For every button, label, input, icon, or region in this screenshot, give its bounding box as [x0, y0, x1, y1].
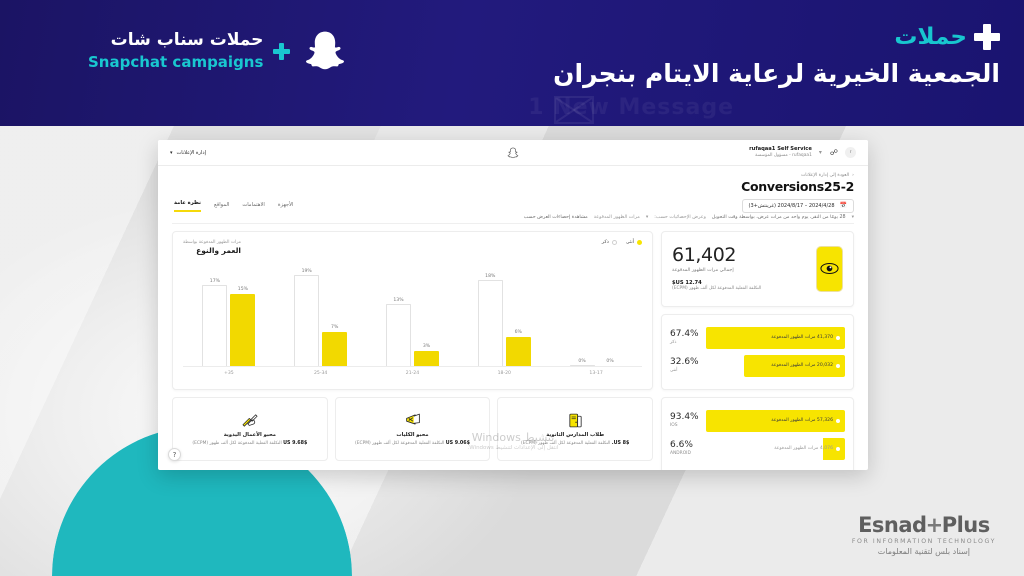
left-column: 61,402 إجمالي مرات الظهور المدفوعة $US 1…: [661, 231, 854, 470]
os-row-android: 4,076 مرات الظهور المدفوعة 6.6% ANDROID: [670, 438, 845, 460]
chevron-down-icon[interactable]: ▾: [819, 149, 822, 156]
bar-female-18-20: 6%: [506, 337, 531, 365]
chart-x-axis: +35 25-34 21-24 18-20 13-17: [183, 371, 642, 376]
gender-female-label: أنثى: [670, 368, 699, 373]
avatar[interactable]: r: [845, 147, 856, 158]
logo-tagline: FOR INFORMATION TECHNOLOGY: [852, 538, 996, 545]
impressions-card: 61,402 إجمالي مرات الظهور المدفوعة $US 1…: [661, 231, 854, 307]
audience-cost-value: $US 9.68: [283, 441, 307, 446]
legend-item-male[interactable]: ذكر: [602, 240, 617, 245]
bar-male-13-17: 0%: [570, 365, 595, 366]
stats-filter-prefix: مشاهدة إحصاءات العرض حسب: [524, 215, 588, 220]
bar-female-25-34: 7%: [322, 332, 347, 366]
dashboard-header: ‹ العودة إلى إدارة الإعلانات Conversions…: [158, 166, 868, 224]
audience-cost: $US 9.68 التكلفة الفعلية المدفوعة لكل أل…: [192, 441, 307, 447]
chart-legend: أنثى ذكر: [602, 240, 642, 245]
audience-card-high-school[interactable]: طلاب المدارس الثانوية $US 8. التكلفة الف…: [497, 397, 653, 461]
legend-item-female[interactable]: أنثى: [626, 240, 642, 245]
bar-label-female-25-34: 7%: [331, 325, 338, 330]
date-range-value: 2024/4/28 – 2024/8/17 (غرينتش+3): [749, 203, 835, 209]
gender-bar-male: 41,370 مرات الظهور المدفوعة: [706, 327, 845, 349]
bar-label-male-25-34: 19%: [302, 269, 312, 274]
right-column: أنثى ذكر مرات الظهور المدفوعة بواسطة الع…: [172, 231, 653, 470]
xtick-35plus: +35: [201, 371, 257, 376]
bell-icon[interactable]: ☍: [830, 148, 838, 157]
logo-arabic: إسناد بلس لتقنية المعلومات: [852, 547, 996, 556]
audience-cost-label: التكلفة الفعلية المدفوعة لكل ألف ظهور (E…: [521, 441, 610, 446]
dashboard-topbar: r ☍ ▾ rufaqaa1 Self Service rufaqaa1 - م…: [158, 140, 868, 166]
plus-icon: [273, 43, 290, 60]
tab-devices[interactable]: الأجهزة: [278, 202, 294, 212]
os-breakdown-card: 57,326 مرات الظهور المدفوعة 93.4% IOS 4,…: [661, 397, 854, 470]
bar-label-male-21-24: 13%: [393, 298, 403, 303]
gender-row-female: 20,032 مرات الظهور المدفوعة 32.6% أنثى: [670, 355, 845, 377]
bar-label-female-35plus: 15%: [238, 287, 248, 292]
banner-kicker: حملات: [894, 26, 967, 49]
bar-female-21-24: 3%: [414, 351, 439, 366]
date-range-picker[interactable]: 📅 2024/4/28 – 2024/8/17 (غرينتش+3): [742, 199, 854, 213]
bullet-icon: [836, 336, 840, 340]
gender-male-percent: 67.4%: [670, 330, 699, 339]
bullet-icon: [836, 419, 840, 423]
bar-male-35plus: 17%: [202, 285, 227, 366]
audience-card-college[interactable]: محبو الكليات $US 9.06 التكلفة الفعلية ال…: [335, 397, 491, 461]
stats-filter-row: ▾ 28 يومًا من النقر، يوم واحد من مرات عر…: [172, 215, 854, 224]
audience-cost-label: التكلفة الفعلية المدفوعة لكل ألف ظهور (E…: [355, 441, 444, 446]
bar-male-21-24: 13%: [386, 304, 411, 366]
bar-group-25-34: 19% 7%: [294, 261, 347, 366]
dashboard-content: 61,402 إجمالي مرات الظهور المدفوعة $US 1…: [158, 224, 868, 470]
bar-group-35plus: 17% 15%: [202, 261, 255, 366]
envelope-icon: [554, 96, 594, 124]
breadcrumb-label: العودة إلى إدارة الإعلانات: [801, 173, 849, 178]
os-row-ios: 57,326 مرات الظهور المدفوعة 93.4% IOS: [670, 410, 845, 432]
chevron-down-icon: ▾: [170, 150, 173, 156]
gender-row-male: 41,370 مرات الظهور المدفوعة 67.4% ذكر: [670, 327, 845, 349]
legend-swatch-female-icon: [637, 240, 642, 245]
audience-name: طلاب المدارس الثانوية: [546, 432, 604, 438]
audience-card-diy[interactable]: محبو الأعمال اليدوية $US 9.68 التكلفة ال…: [172, 397, 328, 461]
gender-breakdown-card: 41,370 مرات الظهور المدفوعة 67.4% ذكر 20…: [661, 314, 854, 390]
eye-icon: [816, 246, 843, 292]
xtick-18-20: 18-20: [476, 371, 532, 376]
college-pennant-icon: [404, 412, 422, 429]
os-android-label: ANDROID: [670, 451, 693, 456]
calendar-icon: 📅: [840, 202, 847, 209]
bar-male-25-34: 19%: [294, 275, 319, 365]
audience-cost-label: التكلفة الفعلية المدفوعة لكل ألف ظهور (E…: [192, 441, 281, 446]
page-title: Conversions25-2: [172, 180, 854, 194]
banner-left-block: حملات سناب شات Snapchat campaigns: [88, 28, 348, 74]
account-role: rufaqaa1 - مسؤول المؤسسة: [749, 153, 812, 159]
tab-interests[interactable]: الاهتمامات: [242, 202, 265, 212]
bar-label-male-35plus: 17%: [210, 279, 220, 284]
snapchat-ads-dashboard: r ☍ ▾ rufaqaa1 Self Service rufaqaa1 - م…: [158, 140, 868, 470]
banner-right-block: حملات الجمعية الخيرية لرعاية الايتام بنج…: [553, 24, 1000, 88]
banner-title: الجمعية الخيرية لرعاية الايتام بنجران: [553, 59, 1000, 88]
xtick-25-34: 25-34: [293, 371, 349, 376]
audience-name: محبو الكليات: [396, 432, 428, 438]
os-ios-label: IOS: [670, 423, 699, 428]
logo-brand-right: Plus: [942, 513, 990, 537]
breadcrumb-chevron-icon: ‹: [852, 173, 854, 178]
legend-swatch-male-icon: [612, 240, 617, 245]
bar-label-female-21-24: 3%: [423, 344, 430, 349]
logo-plus-icon: +: [926, 513, 943, 537]
os-bar-android: 4,076 مرات الظهور المدفوعة: [700, 438, 845, 460]
dashboard-tabs: الأجهزة الاهتمامات المواقع نظرة عامة: [174, 200, 293, 212]
snapchat-ghost-icon: [302, 28, 348, 74]
audience-cost: $US 8. التكلفة الفعلية المدفوعة لكل ألف …: [521, 441, 629, 447]
school-locker-icon: [567, 412, 584, 429]
banner-left-english: Snapchat campaigns: [88, 53, 263, 72]
os-bar-android-text: 4,076 مرات الظهور المدفوعة: [774, 446, 833, 451]
stats-metric-chevron-icon[interactable]: ▾: [646, 215, 648, 220]
bar-label-female-18-20: 6%: [515, 330, 522, 335]
stats-metric-value[interactable]: مرات الظهور المدفوعة: [594, 215, 640, 220]
xtick-21-24: 21-24: [384, 371, 440, 376]
chart-header: أنثى ذكر مرات الظهور المدفوعة بواسطة الع…: [183, 240, 642, 255]
top-banner: 1 New Message حملات الجمعية الخيرية لرعا…: [0, 0, 1024, 126]
gender-male-label: ذكر: [670, 340, 699, 345]
legend-label-male: ذكر: [602, 240, 609, 245]
bar-label-male-13-17: 0%: [578, 359, 585, 364]
bar-female-35plus: 15%: [230, 294, 255, 365]
gender-bar-female-text: 20,032 مرات الظهور المدفوعة: [771, 363, 833, 368]
legend-label-female: أنثى: [626, 240, 634, 245]
gender-bar-male-text: 41,370 مرات الظهور المدفوعة: [771, 335, 833, 340]
breadcrumb[interactable]: ‹ العودة إلى إدارة الإعلانات: [172, 173, 854, 178]
age-gender-chart: أنثى ذكر مرات الظهور المدفوعة بواسطة الع…: [172, 231, 653, 390]
esnad-plus-logo: Esnad + Plus FOR INFORMATION TECHNOLOGY …: [852, 513, 996, 556]
bar-label-male-18-20: 18%: [485, 274, 495, 279]
bar-group-13-17: 0% 0%: [570, 261, 623, 366]
audience-cards-row: طلاب المدارس الثانوية $US 8. التكلفة الف…: [172, 397, 653, 461]
account-switcher[interactable]: rufaqaa1 Self Service rufaqaa1 - مسؤول ا…: [749, 146, 812, 159]
logo-brand-left: Esnad: [858, 513, 927, 537]
chart-title: العمر والنوع: [183, 246, 241, 255]
os-bar-ios-text: 57,326 مرات الظهور المدفوعة: [771, 418, 833, 423]
plus-icon: [974, 24, 1000, 50]
chart-kicker: مرات الظهور المدفوعة بواسطة: [183, 240, 241, 245]
os-android-percent: 6.6%: [670, 441, 693, 450]
stats-filter-suffix-label: وعرض الإحصائيات حسب:: [654, 215, 706, 220]
audience-cost: $US 9.06 التكلفة الفعلية المدفوعة لكل أل…: [355, 441, 470, 447]
bar-label-female-13-17: 0%: [606, 359, 613, 364]
audience-cost-value: $US 9.06: [446, 441, 470, 446]
bar-male-18-20: 18%: [478, 280, 503, 366]
ads-manager-menu[interactable]: إدارة الإعلانات ▾: [170, 150, 206, 156]
screwdriver-wrench-icon: [241, 412, 259, 429]
bullet-icon: [836, 447, 840, 451]
bar-group-18-20: 18% 6%: [478, 261, 531, 366]
account-name: rufaqaa1 Self Service: [749, 146, 812, 153]
chart-plot-area: 17% 15% 19% 7%: [183, 261, 642, 367]
stats-filter-suffix-value[interactable]: 28 يومًا من النقر، يوم واحد من مرات عرض،…: [712, 215, 846, 220]
gender-female-percent: 32.6%: [670, 358, 699, 367]
tab-locations[interactable]: المواقع: [214, 202, 229, 212]
eye-icon-glyph: [820, 262, 839, 275]
banner-left-arabic: حملات سناب شات: [88, 30, 263, 51]
snapchat-ghost-icon: [507, 146, 520, 159]
stats-filter-suffix-chevron-icon[interactable]: ▾: [852, 215, 854, 220]
impressions-value: 61,402: [672, 246, 806, 266]
gender-bar-female: 20,032 مرات الظهور المدفوعة: [744, 355, 845, 377]
controls-row: 📅 2024/4/28 – 2024/8/17 (غرينتش+3) الأجه…: [172, 199, 854, 213]
os-ios-percent: 93.4%: [670, 413, 699, 422]
bullet-icon: [836, 364, 840, 368]
impressions-cost-label: التكلفة الفعلية المدفوعة لكل ألف ظهور (E…: [672, 286, 806, 292]
audience-cost-value: $US 8.: [612, 441, 630, 446]
impressions-label: إجمالي مرات الظهور المدفوعة: [672, 268, 806, 273]
tab-overview[interactable]: نظرة عامة: [174, 200, 201, 212]
bar-group-21-24: 13% 3%: [386, 261, 439, 366]
os-bar-ios: 57,326 مرات الظهور المدفوعة: [706, 410, 845, 432]
xtick-13-17: 13-17: [568, 371, 624, 376]
help-button[interactable]: ?: [168, 448, 181, 461]
audience-name: محبو الأعمال اليدوية: [224, 432, 276, 438]
ads-manager-menu-label: إدارة الإعلانات: [177, 150, 206, 156]
